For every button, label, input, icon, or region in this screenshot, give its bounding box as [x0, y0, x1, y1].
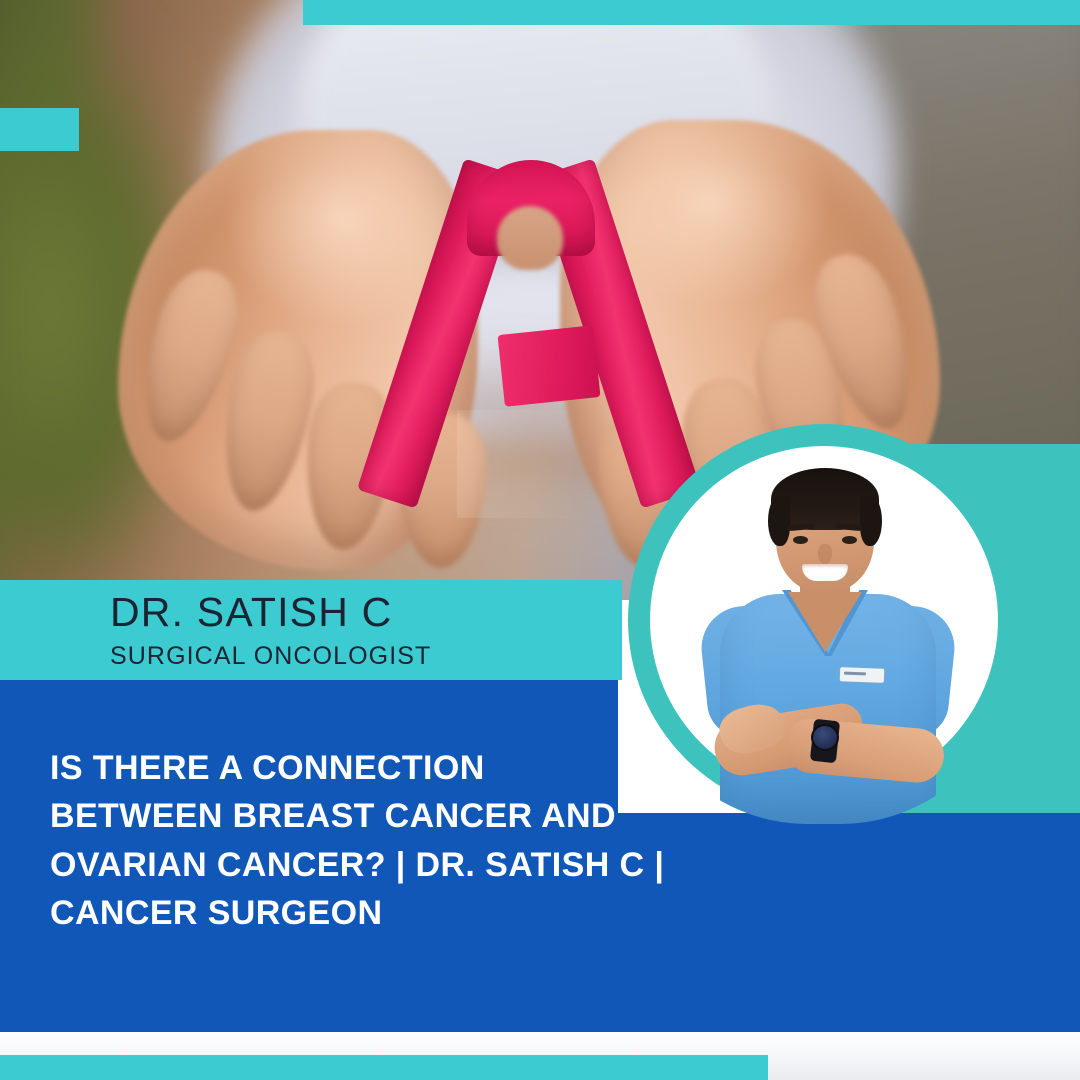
headline-line: OVARIAN CANCER? | DR. SATISH C | — [50, 841, 710, 889]
ribbon-crossover — [497, 325, 600, 407]
ribbon-loop-hole — [497, 206, 563, 270]
headline-line: BETWEEN BREAST CANCER AND — [50, 792, 710, 840]
poster-canvas: DR. SATISH C SURGICAL ONCOLOGIST IS THER… — [0, 0, 1080, 1080]
teal-bar-bottom-icon — [0, 1055, 768, 1080]
headline-title: IS THERE A CONNECTION BETWEEN BREAST CAN… — [50, 744, 710, 937]
doctor-name-band: DR. SATISH C SURGICAL ONCOLOGIST — [0, 580, 622, 680]
doctor-role: SURGICAL ONCOLOGIST — [110, 644, 431, 669]
teal-bar-left-icon — [0, 108, 79, 151]
teal-bar-top-right-icon — [303, 0, 1080, 25]
headline-line: CANCER SURGEON — [50, 889, 710, 937]
headline-line: IS THERE A CONNECTION — [50, 744, 710, 792]
doctor-name: DR. SATISH C — [110, 592, 392, 633]
pink-awareness-ribbon-icon — [405, 160, 695, 520]
doctor-portrait-backdrop — [650, 446, 998, 794]
